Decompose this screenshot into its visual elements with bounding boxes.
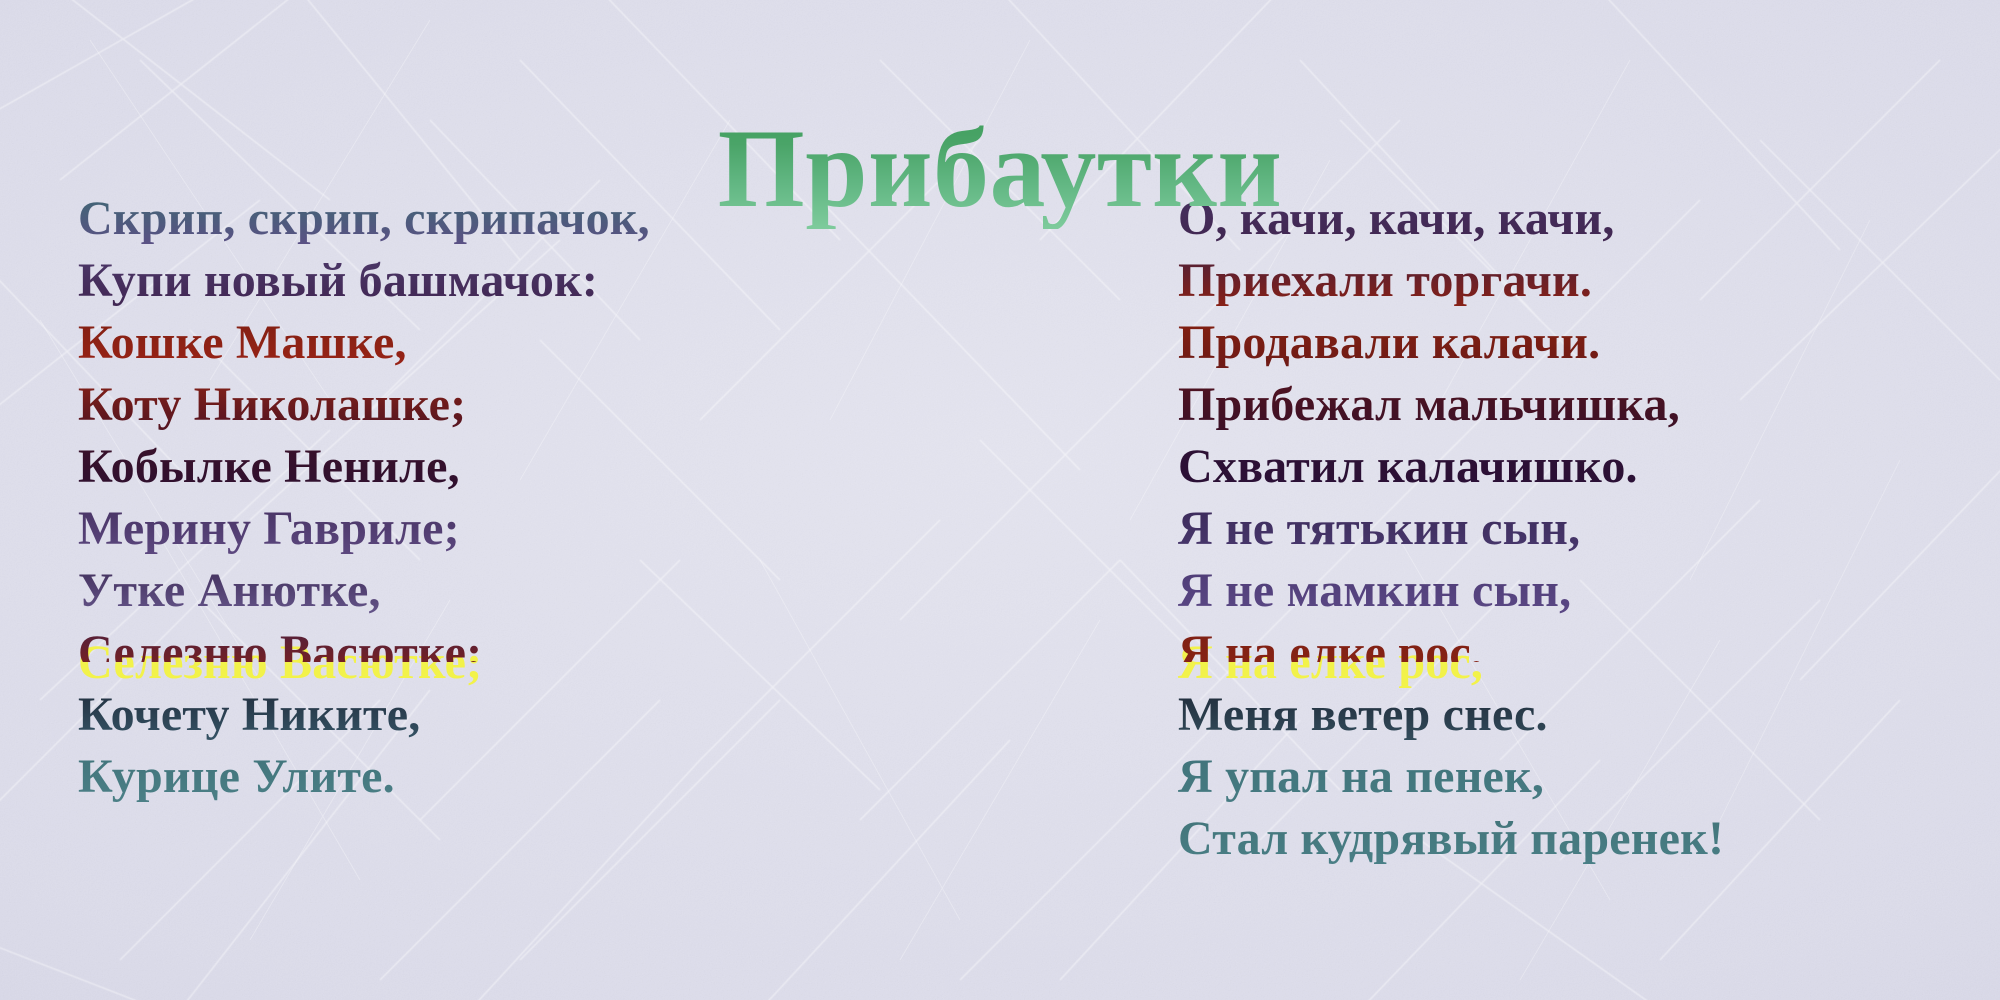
poem-line: Мерину Гавриле; — [78, 498, 908, 560]
page-title-wrapper: Прибаутки — [0, 36, 2000, 304]
poem-line: Курице Улите. — [78, 746, 908, 808]
slide-canvas: Прибаутки Скрип, скрип, скрипачок,Купи н… — [0, 0, 2000, 1000]
poem-line-text: Я упал на пенек, — [1178, 746, 1544, 808]
poem-line-text: Кошке Машке, — [78, 312, 407, 374]
poem-line-clip: Селезню Васютке; — [78, 622, 482, 662]
poem-line-text: Я не тятькин сын, — [1178, 498, 1580, 560]
poem-line: Я на елке рос,Я на елке рос, — [1178, 622, 1978, 684]
poem-line: Я не мамкин сын, — [1178, 560, 1978, 622]
poem-line: Продавали калачи. — [1178, 312, 1978, 374]
poem-line-clip: Я на елке рос, — [1178, 622, 1483, 662]
poem-line: Меня ветер снес. — [1178, 684, 1978, 746]
poem-line: Селезню Васютке;Селезню Васютке; — [78, 622, 908, 684]
poem-line-text: Кобылке Нениле, — [78, 436, 460, 498]
poem-line: Схватил калачишко. — [1178, 436, 1978, 498]
poem-line: Я упал на пенек, — [1178, 746, 1978, 808]
poem-line-text: Утке Анютке, — [78, 560, 381, 622]
poem-line-text: Прибежал мальчишка, — [1178, 374, 1680, 436]
page-title: Прибаутки — [718, 111, 1283, 229]
poem-line: Кошке Машке, — [78, 312, 908, 374]
poem-line-text: Селезню Васютке; — [78, 622, 482, 662]
poem-line: Утке Анютке, — [78, 560, 908, 622]
poem-line-text: Коту Николашке; — [78, 374, 466, 436]
poem-line-text: Меня ветер снес. — [1178, 684, 1548, 746]
poem-line-text: Я на елке рос, — [1178, 622, 1483, 662]
poem-line: Прибежал мальчишка, — [1178, 374, 1978, 436]
poem-line-text: Мерину Гавриле; — [78, 498, 460, 560]
poem-line-text: Продавали калачи. — [1178, 312, 1600, 374]
poem-columns: Скрип, скрип, скрипачок,Купи новый башма… — [0, 188, 2000, 988]
poem-line-text: Я не мамкин сын, — [1178, 560, 1571, 622]
poem-line-text: Стал кудрявый паренек! — [1178, 808, 1724, 870]
poem-line: Кобылке Нениле, — [78, 436, 908, 498]
poem-line-text: Курице Улите. — [78, 746, 395, 808]
poem-line: Коту Николашке; — [78, 374, 908, 436]
poem-line-text: Кочету Никите, — [78, 684, 420, 746]
poem-line: Стал кудрявый паренек! — [1178, 808, 1978, 870]
poem-line: Я не тятькин сын, — [1178, 498, 1978, 560]
poem-line-text: Схватил калачишко. — [1178, 436, 1638, 498]
poem-line: Кочету Никите, — [78, 684, 908, 746]
